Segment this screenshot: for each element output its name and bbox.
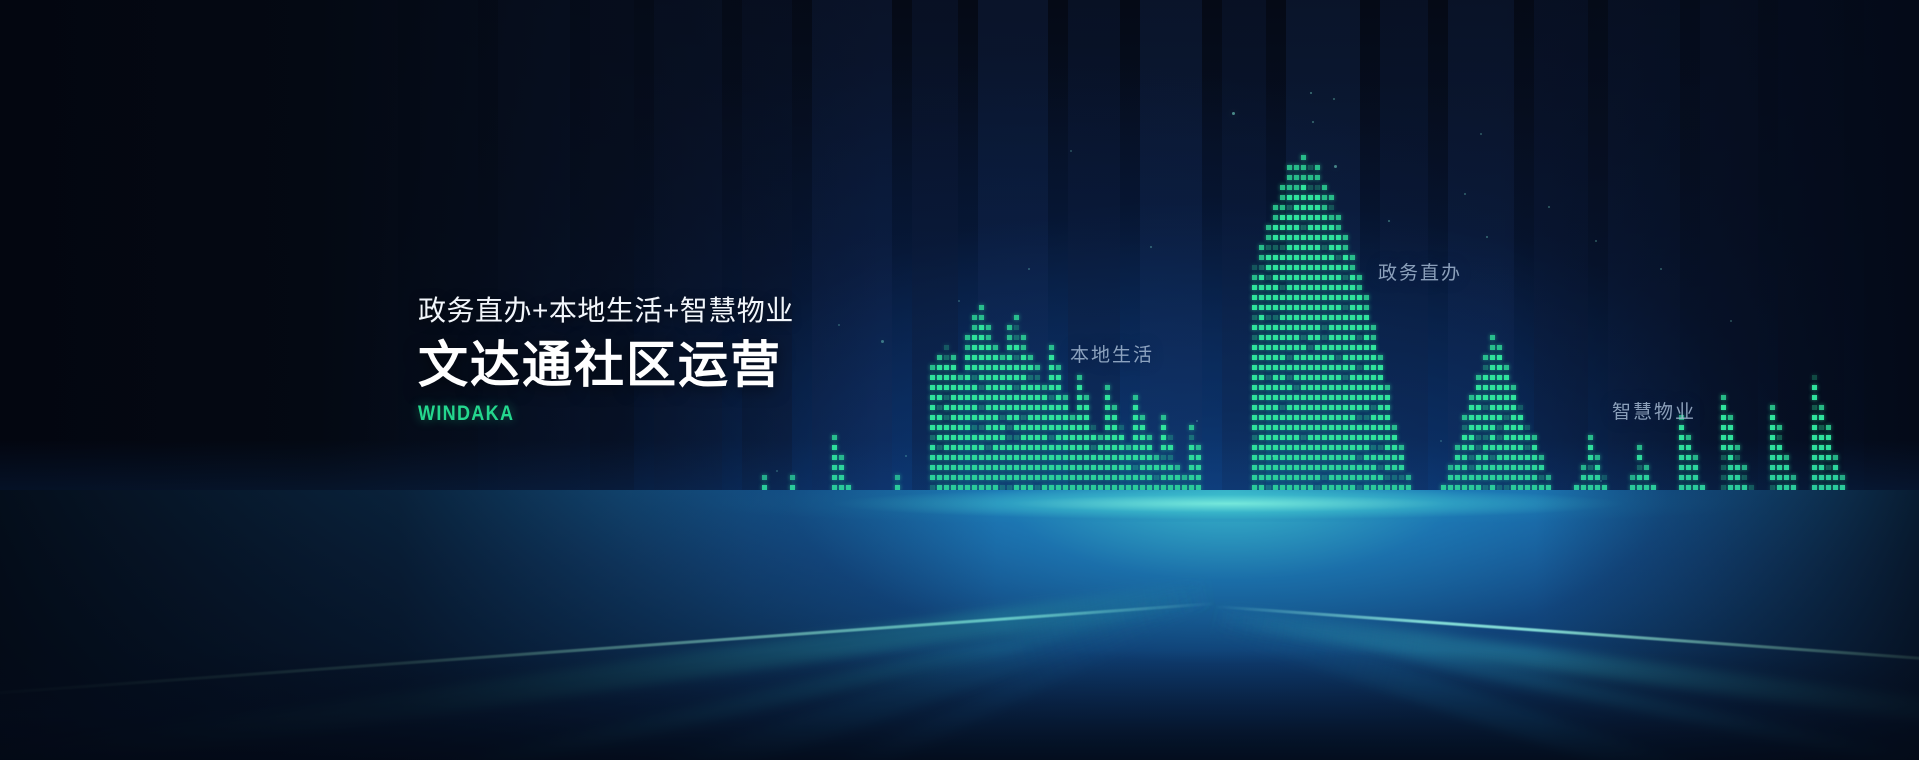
hero-banner: 政务直办本地生活智慧物业 政务直办+本地生活+智慧物业 文达通社区运营 WIND… xyxy=(0,0,1919,760)
banner-subtitle: 政务直办+本地生活+智慧物业 xyxy=(418,294,1058,327)
headline-block: 政务直办+本地生活+智慧物业 文达通社区运营 WINDAKA xyxy=(418,294,1058,426)
brand-wordmark: WINDAKA xyxy=(418,402,968,426)
banner-title: 文达通社区运营 xyxy=(418,339,1058,392)
feature-label-1: 政务直办 xyxy=(1378,258,1462,285)
feature-label-3: 智慧物业 xyxy=(1612,397,1696,424)
feature-label-2: 本地生活 xyxy=(1070,340,1154,367)
